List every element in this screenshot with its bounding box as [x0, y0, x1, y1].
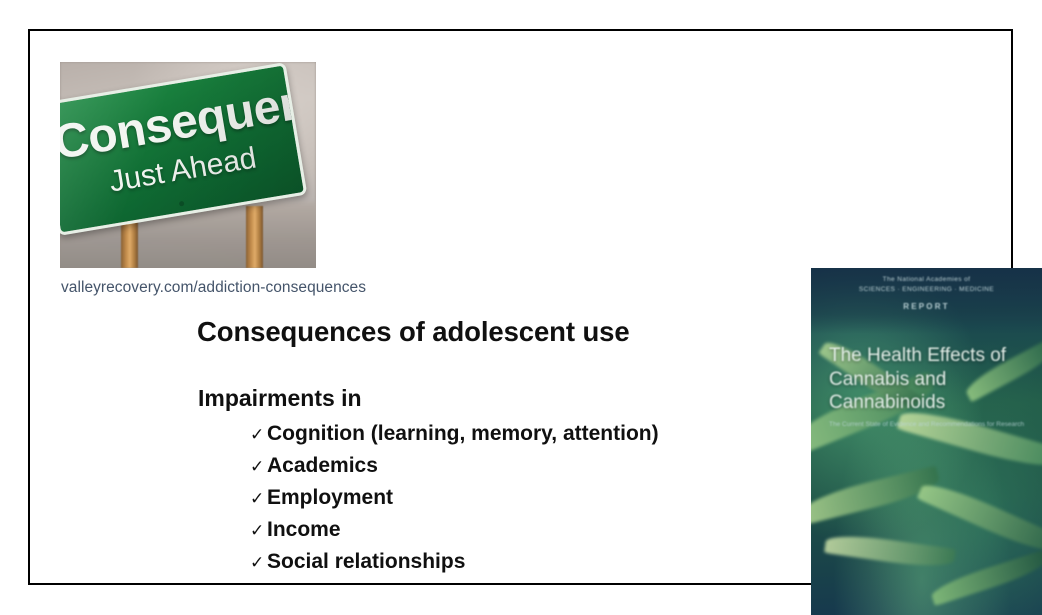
list-item-label: Employment	[267, 482, 393, 514]
list-item: ✓ Employment	[198, 482, 798, 514]
check-icon: ✓	[250, 422, 267, 448]
check-icon: ✓	[250, 550, 267, 576]
slide-canvas: Consequences Just Ahead valleyrecovery.c…	[0, 0, 1042, 610]
cover-subtitle: The Current State of Evidence and Recomm…	[829, 420, 1029, 430]
list-item-label: Cognition (learning, memory, attention)	[267, 418, 659, 450]
cover-title: The Health Effects of Cannabis and Canna…	[829, 344, 1034, 415]
sign-bolt	[179, 201, 185, 207]
list-item-label: Academics	[267, 450, 378, 482]
cover-report-label: REPORT	[811, 302, 1042, 311]
cover-organization-line-2: SCIENCES · ENGINEERING · MEDICINE	[811, 286, 1042, 293]
body-content: Impairments in ✓ Cognition (learning, me…	[198, 384, 798, 578]
check-icon: ✓	[250, 486, 267, 512]
check-icon: ✓	[250, 518, 267, 544]
source-url-caption: valleyrecovery.com/addiction-consequence…	[61, 279, 366, 297]
impairments-label: Impairments in	[198, 384, 798, 412]
book-cover-image: The National Academies of SCIENCES · ENG…	[811, 268, 1042, 615]
road-sign-image: Consequences Just Ahead	[60, 62, 316, 268]
sign-sub-text: Just Ahead	[107, 137, 299, 198]
check-icon: ✓	[250, 454, 267, 480]
slide-heading: Consequences of adolescent use	[197, 316, 630, 348]
list-item-label: Income	[267, 514, 341, 546]
sign-main-text: Consequences	[60, 82, 291, 168]
list-item: ✓ Social relationships	[198, 546, 798, 578]
consequences-bullet-list: ✓ Cognition (learning, memory, attention…	[198, 418, 798, 578]
list-item: ✓ Income	[198, 514, 798, 546]
list-item: ✓ Academics	[198, 450, 798, 482]
cover-organization-line-1: The National Academies of	[811, 276, 1042, 283]
slide-frame: Consequences Just Ahead valleyrecovery.c…	[28, 29, 1013, 585]
list-item-label: Social relationships	[267, 546, 465, 578]
list-item: ✓ Cognition (learning, memory, attention…	[198, 418, 798, 450]
sign-post-right	[246, 206, 263, 268]
